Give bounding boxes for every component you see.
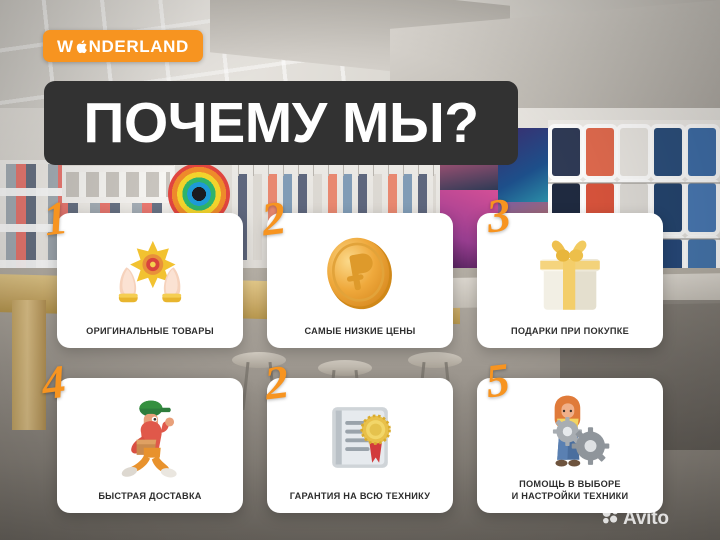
card-badge-number: 2: [262, 359, 291, 409]
card-badge-number: 5: [483, 357, 512, 407]
card-badge-number: 4: [39, 359, 68, 409]
card-badge-number: 2: [259, 195, 288, 245]
running-courier-icon: [57, 386, 243, 490]
promo-poster: W NDERLAND ПОЧЕМУ МЫ? 1 2 3 4 2 5: [0, 0, 720, 540]
card-caption: ПОДАРКИ ПРИ ПОКУПКЕ: [477, 325, 663, 348]
certificate-with-seal-icon: [267, 386, 453, 490]
card-caption: БЫСТРАЯ ДОСТАВКА: [57, 490, 243, 513]
benefit-card-warranty[interactable]: ГАРАНТИЯ НА ВСЮ ТЕХНИКУ: [267, 378, 453, 513]
open-hands-with-sparkle-icon: [57, 221, 243, 325]
gold-ruble-coin-icon: [267, 221, 453, 325]
avito-wordmark: Avito: [623, 509, 669, 528]
card-caption-line1: ПОМОЩЬ В ВЫБОРЕ: [519, 479, 621, 489]
card-caption: ОРИГИНАЛЬНЫЕ ТОВАРЫ: [57, 325, 243, 348]
card-caption: САМЫЕ НИЗКИЕ ЦЕНЫ: [267, 325, 453, 348]
avito-dots-icon: [602, 508, 619, 529]
benefit-card-original-goods[interactable]: ОРИГИНАЛЬНЫЕ ТОВАРЫ: [57, 213, 243, 348]
card-badge-number: 3: [484, 192, 513, 242]
card-badge-number: 1: [41, 195, 70, 245]
avito-watermark: Avito: [602, 508, 669, 529]
card-caption-line2: И НАСТРОЙКИ ТЕХНИКИ: [512, 491, 629, 501]
benefit-card-fast-delivery[interactable]: БЫСТРАЯ ДОСТАВКА: [57, 378, 243, 513]
benefit-card-grid: 1 2 3 4 2 5: [0, 0, 720, 540]
benefit-card-lowest-prices[interactable]: САМЫЕ НИЗКИЕ ЦЕНЫ: [267, 213, 453, 348]
card-caption: ГАРАНТИЯ НА ВСЮ ТЕХНИКУ: [267, 490, 453, 513]
